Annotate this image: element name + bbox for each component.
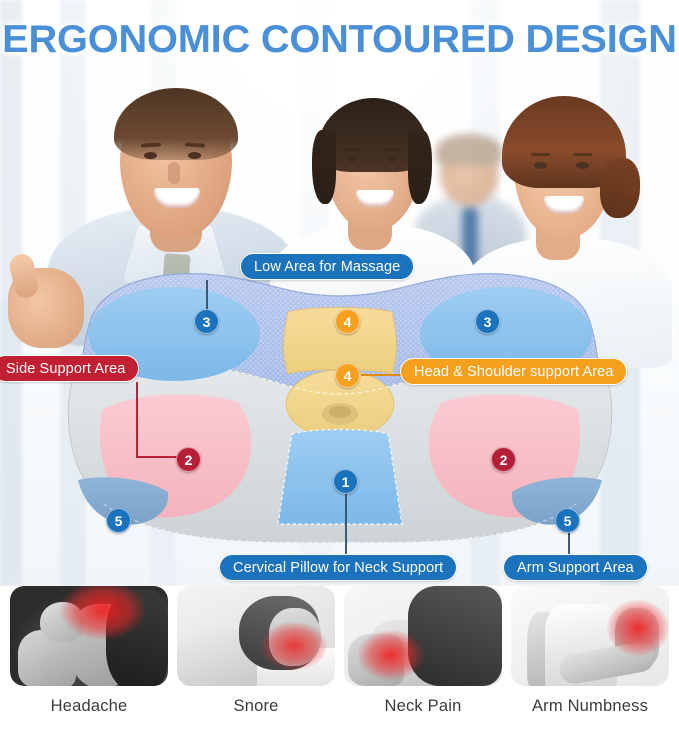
leader-line-low-massage	[206, 280, 208, 310]
callout-side-support-area[interactable]: Side Support Area	[0, 355, 139, 382]
symptom-caption-snore: Snore	[233, 697, 278, 716]
symptom-item-snore[interactable]: Snore	[177, 586, 335, 741]
zone-badge-4-lower[interactable]: 4	[335, 363, 360, 388]
leader-line-arm-support	[568, 532, 570, 556]
page-title: ERGONOMIC CONTOURED DESIGN	[0, 18, 679, 62]
zone-badge-4-upper[interactable]: 4	[335, 309, 360, 334]
callout-arm-support-area[interactable]: Arm Support Area	[503, 554, 648, 581]
zone-badge-5-left[interactable]: 5	[106, 508, 131, 533]
symptom-caption-arm-numbness: Arm Numbness	[532, 697, 648, 716]
leader-line-head-shoulder	[361, 374, 403, 376]
symptom-photo-arm-numbness	[511, 586, 669, 686]
pillow-diagram	[42, 262, 638, 548]
symptom-photo-headache	[10, 586, 168, 686]
symptom-caption-headache: Headache	[51, 697, 128, 716]
pain-glow-icon	[607, 600, 669, 656]
leader-line-side-support-v	[136, 382, 138, 456]
leader-line-cervical	[345, 492, 347, 556]
infographic-root: 1 2 2 3 3 4 4 5 5 Low Area for Massage S…	[0, 0, 679, 741]
pillow-illustration	[42, 262, 638, 548]
symptom-caption-neck-pain: Neck Pain	[384, 697, 461, 716]
zone-badge-3-right[interactable]: 3	[475, 309, 500, 334]
symptom-photo-neck-pain	[344, 586, 502, 686]
zone-badge-2-left[interactable]: 2	[176, 447, 201, 472]
zone-badge-3-left[interactable]: 3	[194, 309, 219, 334]
symptom-strip: Headache Snore Neck Pain	[0, 586, 679, 741]
pain-glow-icon	[261, 622, 327, 670]
symptom-photo-snore	[177, 586, 335, 686]
symptom-item-arm-numbness[interactable]: Arm Numbness	[511, 586, 669, 741]
zone-badge-1[interactable]: 1	[333, 469, 358, 494]
zone-badge-2-right[interactable]: 2	[491, 447, 516, 472]
callout-head-shoulder-support-area[interactable]: Head & Shoulder support Area	[400, 358, 627, 385]
leader-line-side-support-h	[136, 456, 178, 458]
symptom-item-headache[interactable]: Headache	[10, 586, 168, 741]
zone-badge-5-right[interactable]: 5	[555, 508, 580, 533]
callout-low-area-for-massage[interactable]: Low Area for Massage	[240, 253, 414, 280]
callout-cervical-pillow-for-neck-support[interactable]: Cervical Pillow for Neck Support	[219, 554, 457, 581]
symptom-item-neck-pain[interactable]: Neck Pain	[344, 586, 502, 741]
pain-glow-icon	[358, 630, 424, 680]
hero-photo-scene: 1 2 2 3 3 4 4 5 5 Low Area for Massage S…	[0, 0, 679, 586]
